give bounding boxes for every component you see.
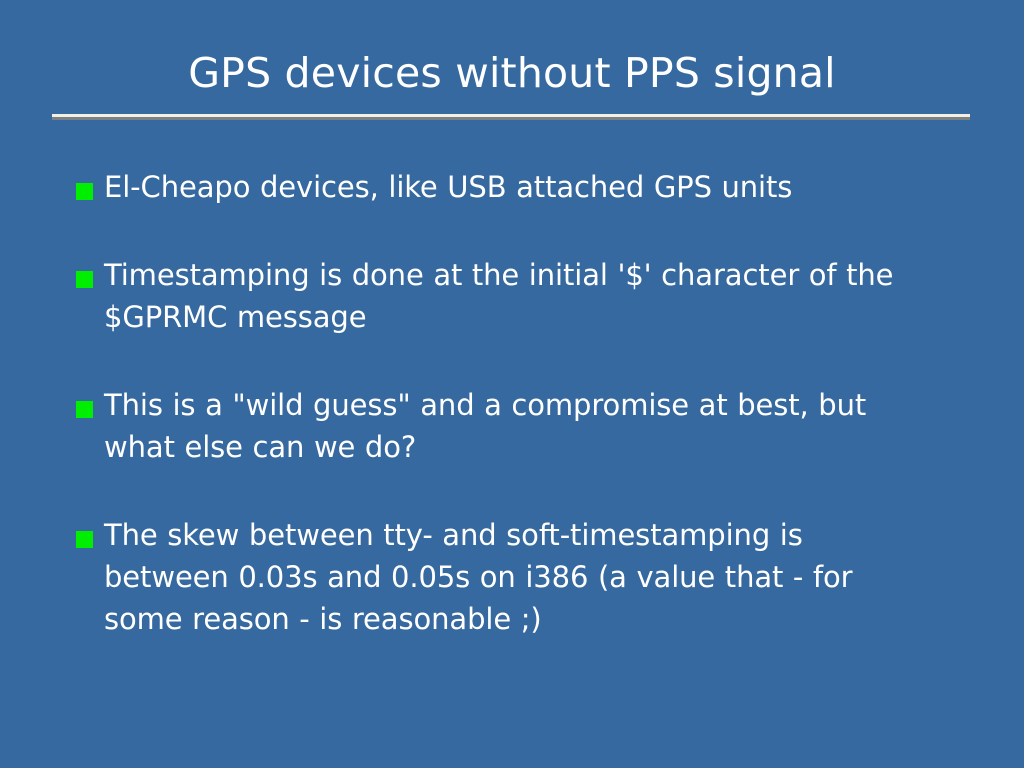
list-item: The skew between tty- and soft-timestamp…	[76, 514, 976, 640]
list-item: This is a "wild guess" and a compromise …	[76, 384, 976, 468]
square-bullet-icon	[76, 271, 93, 288]
list-item: Timestamping is done at the initial '$' …	[76, 254, 976, 338]
square-bullet-icon	[76, 531, 93, 548]
square-bullet-icon	[76, 401, 93, 418]
title-divider-rule	[52, 114, 970, 120]
list-item-label: This is a "wild guess" and a compromise …	[104, 384, 904, 468]
presentation-slide: GPS devices without PPS signal El-Cheapo…	[0, 0, 1024, 768]
list-item-label: Timestamping is done at the initial '$' …	[104, 254, 904, 338]
list-item: El-Cheapo devices, like USB attached GPS…	[76, 166, 976, 208]
divider-shadow-stripe	[52, 117, 970, 120]
list-item-label: El-Cheapo devices, like USB attached GPS…	[104, 166, 924, 208]
bullet-list: El-Cheapo devices, like USB attached GPS…	[76, 166, 976, 640]
list-item-label: The skew between tty- and soft-timestamp…	[104, 514, 904, 640]
page-title: GPS devices without PPS signal	[0, 48, 1024, 98]
slide-title-block: GPS devices without PPS signal	[0, 48, 1024, 98]
square-bullet-icon	[76, 183, 93, 200]
